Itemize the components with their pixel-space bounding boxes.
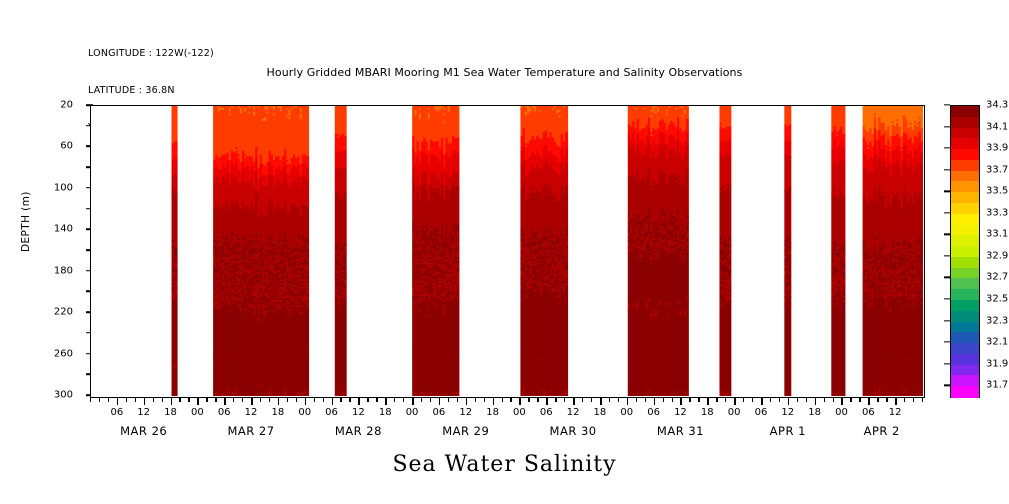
x-axis-minor-tick [582,398,583,402]
x-axis-day-label: MAR 26 [120,424,167,438]
colorbar-tick [944,363,950,364]
x-axis-hour-label: 12 [567,407,580,418]
metadata-latitude: LATITUDE : 36.8N [88,85,214,97]
x-axis-minor-tick [502,398,503,402]
y-axis-tick-label: 180 [54,265,73,276]
x-axis-minor-tick [457,398,458,402]
x-axis-minor-tick [618,398,619,402]
y-axis-title: DEPTH (m) [20,191,32,252]
x-axis-minor-tick [367,398,368,402]
data-column [719,106,731,396]
x-axis-tick [439,398,441,405]
x-axis-hour-label: 00 [835,407,848,418]
x-axis-tick [466,398,468,405]
x-axis-minor-tick [188,398,189,402]
x-axis-minor-tick [430,398,431,402]
x-axis-minor-tick [90,398,91,402]
colorbar-tick-label: 31.7 [986,380,1008,391]
colorbar-tick [944,191,950,192]
chart-title: Hourly Gridded MBARI Mooring M1 Sea Wate… [0,66,1009,79]
x-axis-tick [895,398,897,405]
x-axis-minor-tick [850,398,851,402]
x-axis-minor-tick [689,398,690,402]
x-axis-minor-tick [904,398,905,402]
colorbar-tick [944,126,950,127]
x-axis-tick [278,398,280,405]
x-axis-minor-tick [806,398,807,402]
x-axis-tick [412,398,414,405]
x-axis-minor-tick [215,398,216,402]
x-axis-minor-tick [770,398,771,402]
x-axis-hour-label: 06 [433,407,446,418]
x-axis-minor-tick [698,398,699,402]
x-axis-minor-tick [725,398,726,402]
x-axis-tick [332,398,334,405]
x-axis-minor-tick [528,398,529,402]
colorbar-tick [944,298,950,299]
colorbar-tick [944,212,950,213]
x-axis-minor-tick [394,398,395,402]
x-axis-hour-label: 12 [459,407,472,418]
x-axis-minor-tick [206,398,207,402]
data-column [335,106,347,396]
y-axis-tick-label: 300 [54,390,73,401]
x-axis-tick [707,398,709,405]
x-axis-tick [197,398,199,405]
data-column [831,106,845,396]
x-axis-hour-label: 00 [406,407,419,418]
colorbar-tick-label: 32.9 [986,250,1008,261]
x-axis-hour-label: 18 [486,407,499,418]
x-axis-minor-tick [564,398,565,402]
x-axis-hour-label: 06 [325,407,338,418]
colorbar-tick [944,147,950,148]
data-column [213,106,309,396]
x-axis-hour-label: 06 [540,407,553,418]
x-axis-hour-label: 18 [594,407,607,418]
x-axis-tick [788,398,790,405]
x-axis-minor-tick [743,398,744,402]
x-axis-hour-label: 06 [110,407,123,418]
x-axis-minor-tick [824,398,825,402]
x-axis-day-label: APR 2 [864,424,900,438]
colorbar-tick [944,277,950,278]
x-axis-hour-label: 12 [352,407,365,418]
x-axis-minor-tick [636,398,637,402]
x-axis-hour-label: 12 [137,407,150,418]
colorbar-tick [944,234,950,235]
x-axis-tick [519,398,521,405]
x-axis-tick [171,398,173,405]
colorbar-tick [944,385,950,386]
x-axis-minor-tick [162,398,163,402]
x-axis-minor-tick [886,398,887,402]
x-axis-tick [868,398,870,405]
x-axis-tick [117,398,119,405]
x-axis-hour-label: 06 [755,407,768,418]
x-axis: 0612180006121800061218000612180006121800… [90,398,925,446]
colorbar-tick-label: 33.3 [986,207,1008,218]
x-axis-minor-tick [609,398,610,402]
x-axis-tick [224,398,226,405]
colorbar-tick-label: 32.1 [986,337,1008,348]
colorbar-tick-label: 32.5 [986,294,1008,305]
colorbar-tick-label: 33.7 [986,164,1008,175]
colorbar-tick [944,320,950,321]
x-axis-minor-tick [108,398,109,402]
x-axis-minor-tick [323,398,324,402]
colorbar-tick-label: 33.9 [986,143,1008,154]
x-axis-hour-label: 06 [218,407,231,418]
x-axis-minor-tick [591,398,592,402]
x-axis-minor-tick [859,398,860,402]
colorbar-tick-label: 32.7 [986,272,1008,283]
y-axis-tick-label: 140 [54,224,73,235]
x-axis-hour-label: 12 [781,407,794,418]
x-axis-minor-tick [126,398,127,402]
y-axis-tick-label: 60 [60,141,73,152]
x-axis-minor-tick [99,398,100,402]
y-axis-tick-label: 220 [54,307,73,318]
colorbar-labels: 34.334.133.933.733.533.333.132.932.732.5… [950,105,1009,398]
colorbar-tick-label: 33.1 [986,229,1008,240]
x-axis-minor-tick [645,398,646,402]
x-axis-minor-tick [555,398,556,402]
x-axis-hour-label: 18 [379,407,392,418]
x-axis-minor-tick [179,398,180,402]
x-axis-minor-tick [537,398,538,402]
x-axis-tick [144,398,146,405]
x-axis-hour-label: 06 [647,407,660,418]
x-axis-day-label: MAR 30 [550,424,597,438]
x-axis-minor-tick [779,398,780,402]
x-axis-hour-label: 18 [271,407,284,418]
y-axis-tick-label: 260 [54,348,73,359]
x-axis-minor-tick [403,398,404,402]
y-axis: 2060100140180220260300 [0,105,86,398]
colorbar-tick-label: 34.3 [986,100,1008,111]
x-axis-minor-tick [296,398,297,402]
x-axis-tick [680,398,682,405]
x-axis-minor-tick [663,398,664,402]
data-column [863,106,923,396]
x-axis-hour-label: 12 [245,407,258,418]
colorbar-tick-label: 34.1 [986,121,1008,132]
x-axis-day-label: APR 1 [770,424,806,438]
x-axis-minor-tick [269,398,270,402]
x-axis-tick [815,398,817,405]
x-axis-tick [600,398,602,405]
x-axis-minor-tick [797,398,798,402]
x-axis-minor-tick [349,398,350,402]
colorbar-tick-label: 31.9 [986,358,1008,369]
colorbar-tick-label: 33.5 [986,186,1008,197]
data-column [520,106,568,396]
x-axis-hour-label: 12 [674,407,687,418]
x-axis-hour-label: 18 [808,407,821,418]
x-axis-minor-tick [475,398,476,402]
x-axis-tick [385,398,387,405]
x-axis-hour-label: 00 [513,407,526,418]
x-axis-tick [654,398,656,405]
x-axis-minor-tick [242,398,243,402]
x-axis-minor-tick [421,398,422,402]
x-axis-tick [734,398,736,405]
x-axis-tick [493,398,495,405]
x-axis-day-label: MAR 29 [442,424,489,438]
metadata-longitude: LONGITUDE : 122W(-122) [88,48,214,60]
x-axis-day-label: MAR 31 [657,424,704,438]
x-axis-minor-tick [877,398,878,402]
x-axis-minor-tick [484,398,485,402]
x-axis-day-label: MAR 28 [335,424,382,438]
colorbar-tick [944,341,950,342]
colorbar-tick [944,169,950,170]
y-axis-tick-label: 20 [60,100,73,111]
x-axis-minor-tick [922,398,923,402]
x-axis-minor-tick [833,398,834,402]
x-axis-minor-tick [340,398,341,402]
x-axis-minor-tick [135,398,136,402]
data-column [412,106,459,396]
variable-title: Sea Water Salinity [0,452,1009,477]
x-axis-minor-tick [716,398,717,402]
x-axis-tick [305,398,307,405]
x-axis-minor-tick [287,398,288,402]
data-column [784,106,791,396]
x-axis-hour-label: 06 [862,407,875,418]
data-column [172,106,178,396]
x-axis-minor-tick [510,398,511,402]
x-axis-tick [358,398,360,405]
salinity-contour-plot [91,106,923,396]
x-axis-hour-label: 00 [728,407,741,418]
y-axis-tick-label: 100 [54,182,73,193]
x-axis-minor-tick [448,398,449,402]
x-axis-minor-tick [314,398,315,402]
x-axis-minor-tick [752,398,753,402]
x-axis-minor-tick [376,398,377,402]
x-axis-hour-label: 00 [191,407,204,418]
x-axis-hour-label: 12 [889,407,902,418]
colorbar-tick [944,104,950,105]
x-axis-tick [627,398,629,405]
plot-area [90,105,925,398]
x-axis-minor-tick [913,398,914,402]
x-axis-minor-tick [260,398,261,402]
x-axis-hour-label: 00 [298,407,311,418]
x-axis-hour-label: 18 [164,407,177,418]
x-axis-minor-tick [672,398,673,402]
x-axis-hour-label: 00 [620,407,633,418]
x-axis-tick [841,398,843,405]
x-axis-tick [573,398,575,405]
x-axis-hour-label: 18 [701,407,714,418]
x-axis-tick [761,398,763,405]
x-axis-tick [546,398,548,405]
x-axis-minor-tick [153,398,154,402]
x-axis-tick [251,398,253,405]
colorbar-tick [944,255,950,256]
data-column [628,106,689,396]
colorbar-tick-label: 32.3 [986,315,1008,326]
x-axis-day-label: MAR 27 [227,424,274,438]
x-axis-minor-tick [233,398,234,402]
